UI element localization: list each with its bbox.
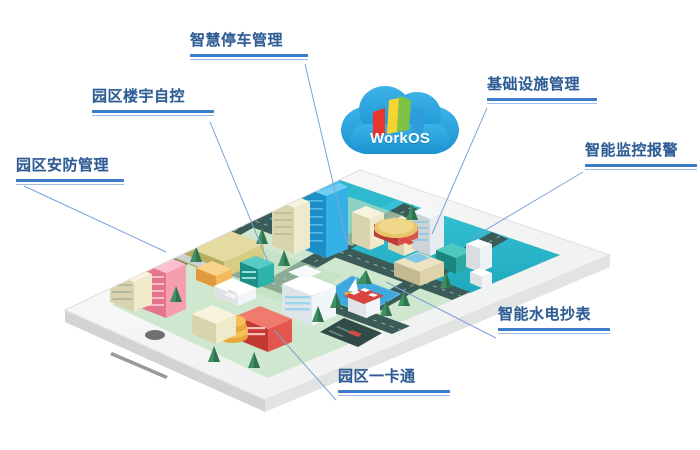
infographic-canvas: WorkOS 园区安防管理 园区楼宇自控 智慧停车管理 基础设施管理 智能监控报… bbox=[0, 0, 700, 450]
callout-label-surveillance: 智能监控报警 bbox=[585, 142, 697, 160]
callout-rule-infrastructure bbox=[487, 98, 597, 104]
callout-rule-surveillance bbox=[585, 164, 697, 170]
callout-building-automation[interactable]: 园区楼宇自控 bbox=[92, 88, 214, 116]
callout-label-utility-metering: 智能水电抄表 bbox=[498, 306, 610, 324]
callout-label-park-security: 园区安防管理 bbox=[16, 157, 124, 175]
rule-bar bbox=[585, 164, 697, 167]
rule-bar bbox=[190, 54, 308, 57]
home-button bbox=[145, 330, 165, 340]
rule-bar bbox=[16, 179, 124, 182]
rule-bar bbox=[92, 110, 214, 113]
rule-bar bbox=[338, 390, 450, 393]
callout-rule-building-automation bbox=[92, 110, 214, 116]
rule-bar bbox=[498, 328, 610, 331]
callout-label-infrastructure: 基础设施管理 bbox=[487, 76, 597, 94]
callout-rule-utility-metering bbox=[498, 328, 610, 334]
callout-infrastructure-management[interactable]: 基础设施管理 bbox=[487, 76, 597, 104]
callout-label-building-automation: 园区楼宇自控 bbox=[92, 88, 214, 106]
callout-rule-smart-parking bbox=[190, 54, 308, 60]
callout-park-security-management[interactable]: 园区安防管理 bbox=[16, 157, 124, 185]
workos-cloud-logo: WorkOS bbox=[339, 76, 461, 168]
building-beige-office bbox=[272, 193, 310, 254]
rule-hairline bbox=[16, 184, 124, 185]
rule-hairline bbox=[190, 59, 308, 60]
callout-park-all-in-one-card[interactable]: 园区一卡通 bbox=[338, 368, 450, 396]
logo-brand-text: WorkOS bbox=[339, 130, 461, 147]
shard-green bbox=[397, 96, 411, 132]
callout-rule-park-security bbox=[16, 179, 124, 185]
cloud-shape bbox=[339, 76, 461, 168]
callout-smart-utility-metering[interactable]: 智能水电抄表 bbox=[498, 306, 610, 334]
rule-bar bbox=[487, 98, 597, 101]
callout-smart-parking-management[interactable]: 智慧停车管理 bbox=[190, 32, 308, 60]
callout-label-smart-parking: 智慧停车管理 bbox=[190, 32, 308, 50]
callout-label-one-card: 园区一卡通 bbox=[338, 368, 450, 386]
rule-hairline bbox=[92, 115, 214, 116]
rule-hairline bbox=[585, 169, 697, 170]
callout-intelligent-surveillance-alarm[interactable]: 智能监控报警 bbox=[585, 142, 697, 170]
rule-hairline bbox=[338, 395, 450, 396]
rule-hairline bbox=[487, 103, 597, 104]
building-far-right-white bbox=[466, 239, 492, 272]
callout-rule-one-card bbox=[338, 390, 450, 396]
rule-hairline bbox=[498, 333, 610, 334]
